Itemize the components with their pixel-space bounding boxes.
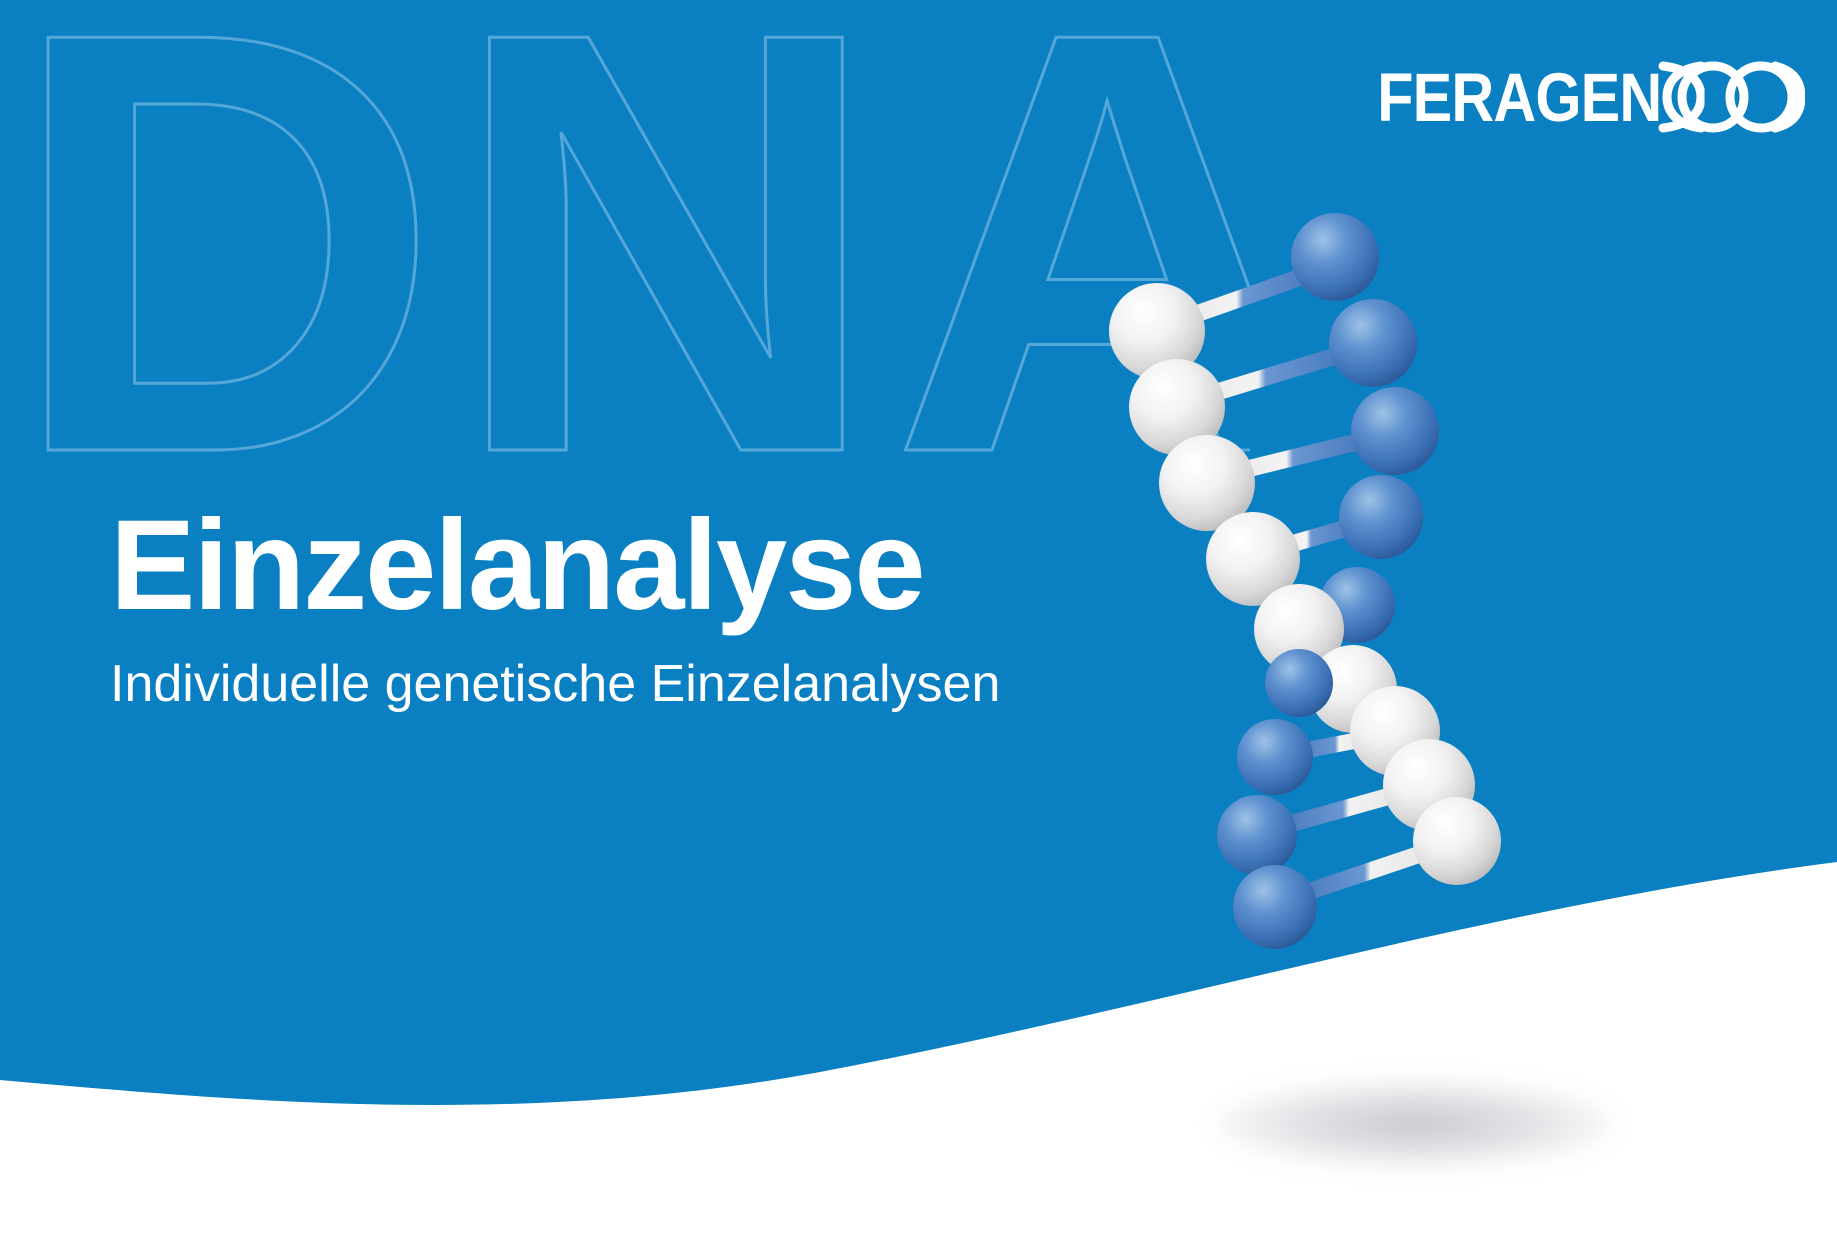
page-subtitle: Individuelle genetische Einzelanalysen [110, 656, 1110, 713]
dna-helix-logo-icon [1657, 60, 1805, 134]
page-title: Einzelanalyse [110, 500, 1110, 632]
hero-text-block: Einzelanalyse Individuelle genetische Ei… [110, 500, 1110, 713]
feragen-logo[interactable]: FERAGEN [1331, 58, 1805, 136]
poster-canvas: DNA FERAGEN [0, 0, 1837, 1252]
logo-wordmark: FERAGEN [1377, 63, 1661, 132]
dna-double-helix-3d-model [1085, 195, 1585, 965]
